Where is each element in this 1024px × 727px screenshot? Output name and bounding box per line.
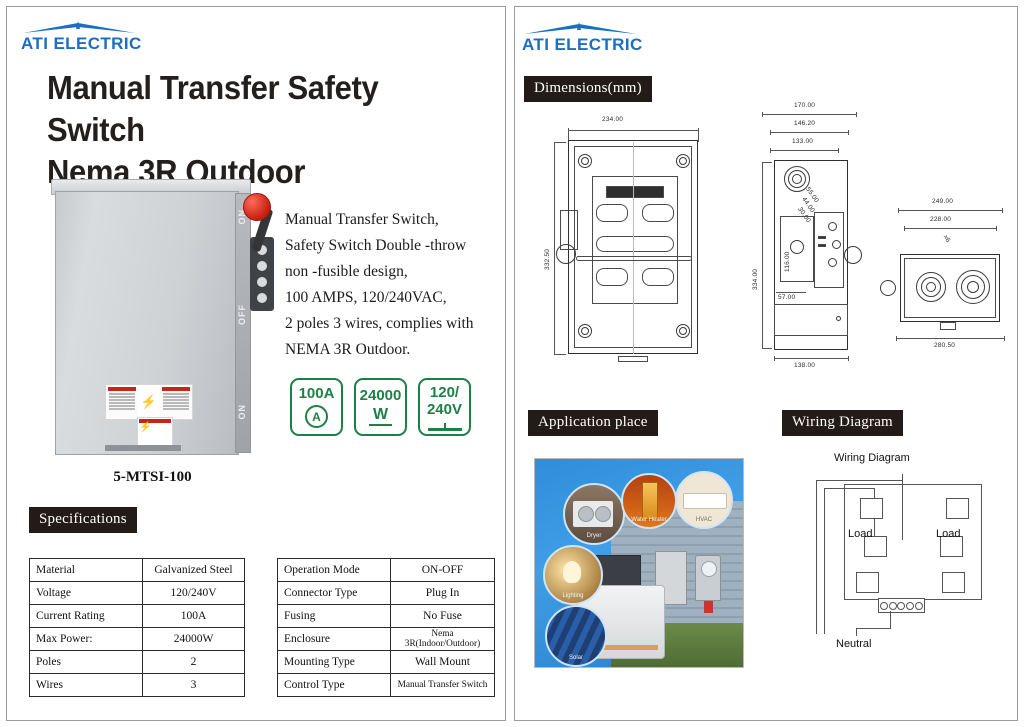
desc-line-2: Safety Switch Double -throw (285, 233, 505, 259)
spec-value: 100A (143, 605, 245, 628)
voltage-badge-value-2: 240V (427, 401, 462, 418)
spec-key: Fusing (278, 605, 391, 628)
spec-key: Wires (30, 674, 143, 697)
danger-label-right-text (160, 385, 192, 419)
product-image: ON OFF ON ⚡ ⚡ (45, 179, 260, 464)
marking-off: OFF (237, 304, 247, 325)
voltage-badge: 120/ 240V (418, 378, 471, 436)
enclosure-bottom-vent (105, 445, 181, 451)
dryer-caption: Dryer (565, 533, 623, 539)
spec-value: 120/240V (143, 582, 245, 605)
table-row: Current Rating100A (30, 605, 245, 628)
solar-inset: Solar (545, 605, 607, 667)
spec-value: No Fuse (391, 605, 495, 628)
desc-line-5: 2 poles 3 wires, complies with (285, 311, 505, 337)
current-badge-value: 100A (299, 386, 335, 402)
load-label-left: Load (848, 528, 872, 540)
voltage-badge-value-1: 120/ (430, 384, 459, 401)
spec-table-right: Operation ModeON-OFF Connector TypePlug … (277, 558, 495, 697)
circled-a-icon: A (305, 405, 328, 428)
side-inner-height-label: 116.00 (784, 251, 791, 272)
spec-value: 2 (143, 651, 245, 674)
solar-caption: Solar (547, 655, 605, 661)
danger-label: ⚡ (105, 384, 193, 420)
front-view-drawing: 234.00 332.50 (530, 110, 730, 380)
water-heater-caption: Water Heater (623, 517, 675, 523)
spec-value: Wall Mount (391, 651, 495, 674)
table-row: Connector TypePlug In (278, 582, 495, 605)
spec-value: Galvanized Steel (143, 559, 245, 582)
table-row: Mounting TypeWall Mount (278, 651, 495, 674)
spec-key: Max Power: (30, 628, 143, 651)
red-switch (704, 601, 713, 613)
side-inner-width-label: 57.00 (778, 294, 795, 301)
current-badge: 100A A (290, 378, 343, 436)
table-row: Voltage120/240V (30, 582, 245, 605)
roof-swoosh-icon (21, 21, 137, 35)
spec-value: Manual Transfer Switch (391, 674, 495, 697)
left-panel: ATI ELECTRIC Manual Transfer Safety Swit… (6, 6, 506, 721)
top-width-label: 249.00 (932, 198, 953, 205)
desc-line-3: non -fusible design, (285, 259, 505, 285)
table-row: EnclosureNema 3R(Indoor/Outdoor) (278, 628, 495, 651)
specifications-header: Specifications (29, 507, 137, 533)
page-title: Manual Transfer Safety Switch Nema 3R Ou… (47, 67, 475, 193)
desc-line-4: 100 AMPS, 120/240VAC, (285, 285, 505, 311)
spec-key: Material (30, 559, 143, 582)
table-row: Operation ModeON-OFF (278, 559, 495, 582)
load-label-right: Load (936, 528, 960, 540)
voltage-line-icon (428, 422, 462, 431)
terminal-top-right (946, 498, 969, 519)
electrocution-pictogram-icon: ⚡ (138, 385, 160, 419)
neutral-label: Neutral (836, 638, 871, 650)
dryer-inset: Dryer (563, 483, 625, 545)
electric-meter (695, 555, 721, 601)
spec-key: Operation Mode (278, 559, 391, 582)
spec-table-left: MaterialGalvanized Steel Voltage120/240V… (29, 558, 245, 697)
wiring-diagram-title: Wiring Diagram (834, 452, 910, 464)
side-height-label: 334.00 (752, 269, 759, 290)
side-dim-170: 170.00 (794, 102, 815, 109)
side-dim-133: 133.00 (792, 138, 813, 145)
wiring-diagram: Wiring Diagram Load Load Neutral (790, 452, 1014, 668)
power-badge: 24000 W (354, 378, 407, 436)
top-inner-width-label: 228.00 (930, 216, 951, 223)
dimension-drawings: 234.00 332.50 (520, 100, 1012, 390)
spec-key: Mounting Type (278, 651, 391, 674)
product-description: Manual Transfer Switch, Safety Switch Do… (285, 207, 505, 363)
hvac-inset: HVAC (675, 471, 733, 529)
desc-line-1: Manual Transfer Switch, (285, 207, 505, 233)
lever-handle-knob (243, 193, 271, 221)
lighting-inset: Lighting (543, 545, 603, 605)
wiring-diagram-header: Wiring Diagram (782, 410, 903, 436)
title-line-1: Manual Transfer Safety Switch (47, 67, 475, 151)
top-bottom-label: 280.50 (934, 342, 955, 349)
spec-value: 24000W (143, 628, 245, 651)
table-row: Poles2 (30, 651, 245, 674)
roof-swoosh-icon (522, 22, 638, 36)
table-row: Max Power:24000W (30, 628, 245, 651)
side-view-drawing: 170.00 146.20 133.00 334.00 55.00 44.00 … (748, 100, 880, 384)
spec-key: Current Rating (30, 605, 143, 628)
spec-badges: 100A A 24000 W 120/ 240V (290, 378, 471, 436)
table-row: FusingNo Fuse (278, 605, 495, 628)
spec-key: Control Type (278, 674, 391, 697)
terminal-top-left (860, 498, 883, 519)
top-view-drawing: 249.00 228.00 x6 280.50 (888, 196, 1012, 376)
lightning-bolt-icon: ⚡ (139, 423, 171, 433)
datasheet-page: ATI ELECTRIC Manual Transfer Safety Swit… (0, 0, 1024, 727)
application-place-header: Application place (528, 410, 658, 436)
brand-name: ATI ELECTRIC (21, 35, 142, 52)
water-heater-inset: Water Heater (621, 473, 677, 529)
terminal-bottom-right (942, 572, 965, 593)
hvac-caption: HVAC (677, 517, 731, 523)
brand-name: ATI ELECTRIC (522, 36, 643, 53)
switch-position-markings: ON OFF ON (236, 209, 248, 419)
table-row: Wires3 (30, 674, 245, 697)
spec-value: 3 (143, 674, 245, 697)
lighting-caption: Lighting (545, 593, 601, 599)
neutral-bar (878, 598, 925, 613)
danger-sub-label: ⚡ (137, 417, 173, 447)
spec-value: ON-OFF (391, 559, 495, 582)
terminal-bottom-left (856, 572, 879, 593)
application-photo: Dryer Water Heater HVAC Lighting Solar (534, 458, 744, 668)
model-number: 5-MTSI-100 (45, 469, 260, 486)
desc-line-6: NEMA 3R Outdoor. (285, 337, 505, 363)
underlined-w-icon: W (369, 407, 392, 426)
side-dim-146: 146.20 (794, 120, 815, 127)
spec-value: Nema 3R(Indoor/Outdoor) (391, 628, 495, 651)
dimensions-header: Dimensions(mm) (524, 76, 652, 102)
side-bottom-label: 138.00 (794, 362, 815, 369)
spec-key: Connector Type (278, 582, 391, 605)
table-row: MaterialGalvanized Steel (30, 559, 245, 582)
marking-on-bottom: ON (237, 404, 247, 420)
spec-key: Poles (30, 651, 143, 674)
spec-value: Plug In (391, 582, 495, 605)
danger-label-left-text (106, 385, 138, 419)
power-badge-value: 24000 (360, 388, 402, 404)
spec-key: Voltage (30, 582, 143, 605)
front-width-label: 234.00 (602, 116, 623, 123)
table-row: Control TypeManual Transfer Switch (278, 674, 495, 697)
brand-logo-right: ATI ELECTRIC (522, 22, 643, 53)
spec-key: Enclosure (278, 628, 391, 651)
front-height-label: 332.50 (544, 249, 551, 270)
brand-logo-left: ATI ELECTRIC (21, 21, 142, 52)
